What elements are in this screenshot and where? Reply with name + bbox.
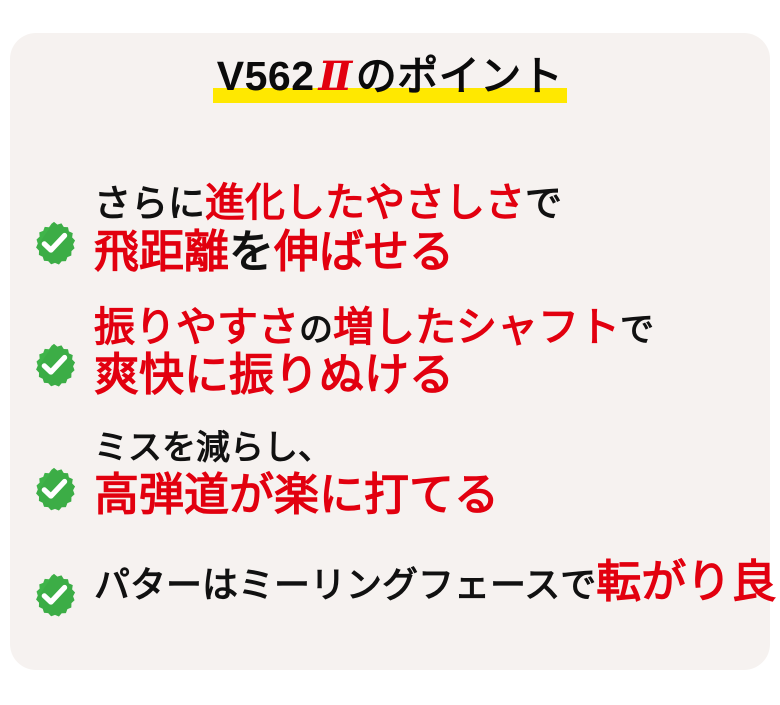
list-item: パターはミーリングフェースで転がり良し (10, 559, 780, 639)
text-run: の (299, 311, 333, 349)
text-run-emphasis: 進化したやさしさ (205, 181, 525, 225)
list-item-line: 振りやすさの増したシャフトで (94, 307, 780, 349)
list-item: さらに進化したやさしさで 飛距離を伸ばせる (10, 183, 780, 307)
title-suffix: のポイント (356, 53, 564, 99)
text-run-emphasis: 振りやすさ (94, 304, 299, 350)
check-badge-icon (32, 221, 76, 265)
list-item-text: ミスを減らし、 高弾道が楽に打てる (76, 431, 780, 518)
list-item-line: 飛距離を伸ばせる (94, 229, 780, 275)
page-title-area: V562Ⅱのポイント (10, 56, 770, 134)
content-card: V562Ⅱのポイント さらに進化したやさしさで 飛距離を伸ばせる (10, 33, 770, 670)
list-item-line: 高弾道が楽に打てる (94, 472, 780, 518)
check-badge-icon (32, 467, 76, 511)
check-badge-icon (32, 573, 76, 617)
text-run: ミスを減らし、 (94, 429, 332, 467)
text-run-emphasis: 伸ばせる (274, 226, 454, 277)
list-item: 振りやすさの増したシャフトで 爽快に振りぬける (10, 307, 780, 431)
text-run: で (525, 183, 562, 224)
list-item-line: さらに進化したやさしさで (94, 183, 780, 224)
text-run-emphasis: 増したシャフト (333, 304, 620, 350)
list-item: ミスを減らし、 高弾道が楽に打てる (10, 431, 780, 559)
text-run-emphasis: 転がり良し (596, 556, 780, 607)
list-item-line: パターはミーリングフェースで転がり良し (94, 559, 780, 605)
title-model: V562 (217, 53, 315, 99)
list-item-line: ミスを減らし、 (94, 431, 780, 466)
list-item-text: 振りやすさの増したシャフトで 爽快に振りぬける (76, 307, 780, 398)
title-roman-numeral: Ⅱ (315, 54, 356, 99)
bullet-list: さらに進化したやさしさで 飛距離を伸ばせる 振りやすさの増したシャフトで 爽快に… (10, 183, 780, 639)
list-item-line: 爽快に振りぬける (94, 352, 780, 398)
page-title: V562Ⅱのポイント (213, 56, 567, 107)
text-run: さらに (94, 183, 205, 224)
text-run-emphasis: 飛距離 (94, 226, 229, 277)
promo-card-page: V562Ⅱのポイント さらに進化したやさしさで 飛距離を伸ばせる (0, 0, 780, 705)
text-run-emphasis: 爽快に振りぬける (94, 349, 454, 400)
text-run: で (620, 311, 654, 349)
text-run: を (229, 226, 274, 277)
list-item-text: パターはミーリングフェースで転がり良し (76, 559, 780, 605)
text-run-emphasis: 高弾道が楽に打てる (94, 469, 499, 520)
text-run: パターはミーリングフェースで (94, 564, 596, 605)
check-badge-icon (32, 343, 76, 387)
list-item-text: さらに進化したやさしさで 飛距離を伸ばせる (76, 183, 780, 275)
